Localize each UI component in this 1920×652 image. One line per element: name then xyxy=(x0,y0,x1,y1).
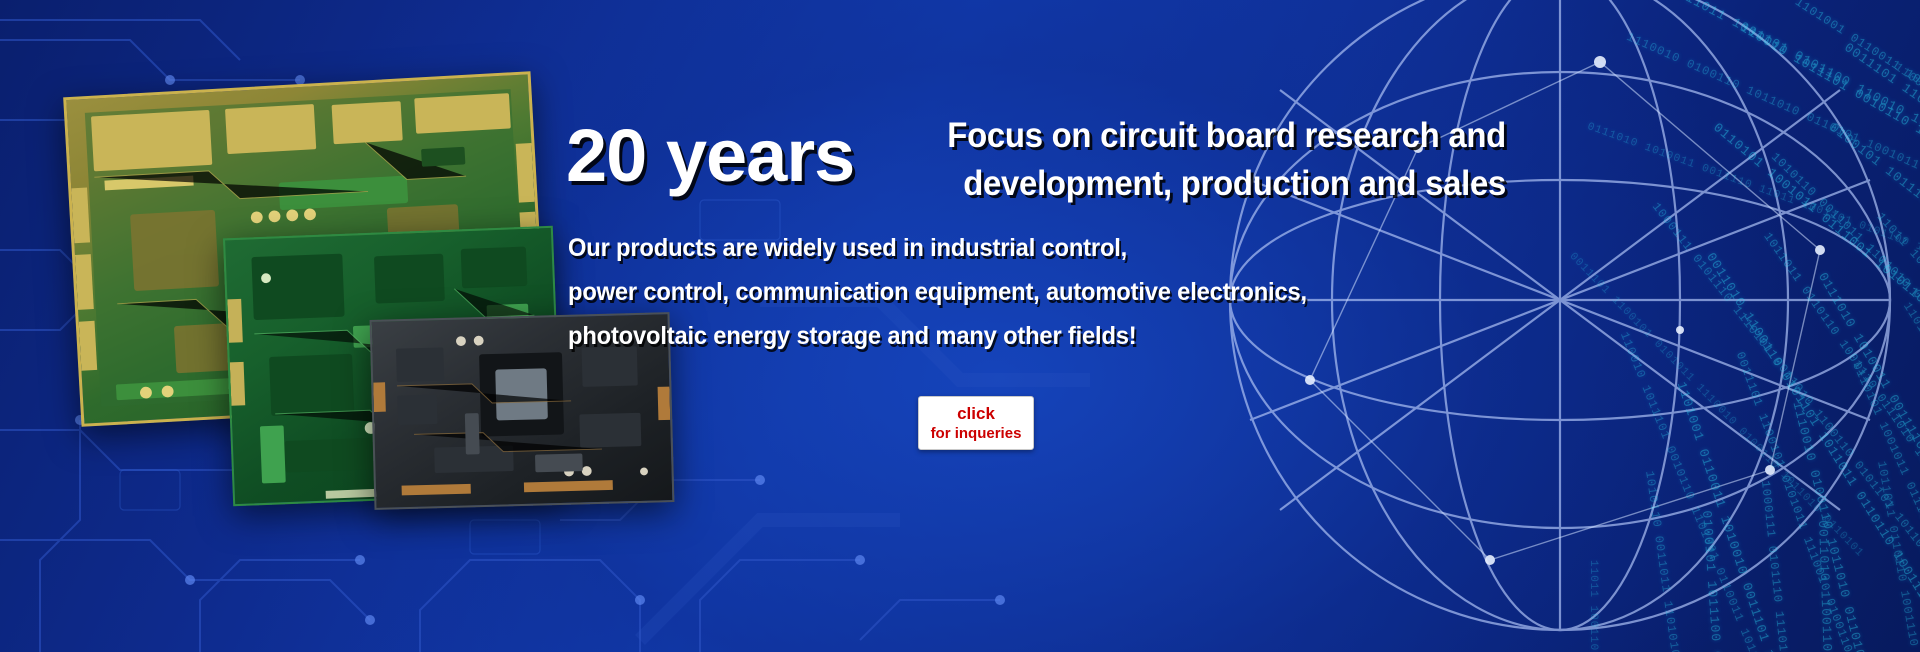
headline-line-1: Focus on circuit board research and xyxy=(942,112,1506,160)
description-line-2: power control, communication equipment, … xyxy=(568,270,1442,314)
headline-lines: Focus on circuit board research and deve… xyxy=(906,112,1506,208)
cta-label-line-2: for inqueries xyxy=(931,424,1022,443)
years-highlight: 20 years xyxy=(566,108,854,204)
hero-banner: 11011 1001101 0101100 110010 1011101 001… xyxy=(0,0,1920,652)
cta-label-line-1: click xyxy=(957,404,995,424)
headline-row: 20 years Focus on circuit board research… xyxy=(566,108,1506,208)
click-for-inquiries-button[interactable]: click for inqueries xyxy=(918,396,1034,450)
headline-line-2: development, production and sales xyxy=(942,160,1506,208)
description-paragraph: Our products are widely used in industri… xyxy=(568,226,1488,358)
description-line-1: Our products are widely used in industri… xyxy=(568,226,1442,270)
banner-text-block: 20 years Focus on circuit board research… xyxy=(0,0,1920,652)
description-line-3: photovoltaic energy storage and many oth… xyxy=(568,314,1442,358)
